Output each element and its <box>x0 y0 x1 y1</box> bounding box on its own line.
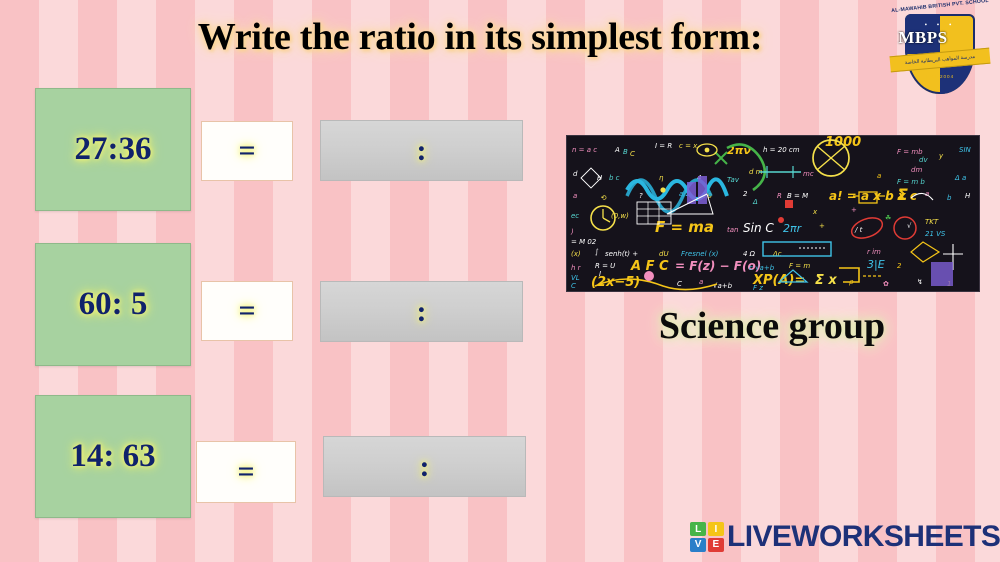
svg-text:dv: dv <box>919 156 928 164</box>
equals-box-2: = <box>201 281 293 341</box>
svg-text:⟲: ⟲ <box>601 194 607 202</box>
svg-text:B = M: B = M <box>787 192 808 200</box>
svg-text:d: d <box>573 170 578 178</box>
svg-text:?: ? <box>639 192 643 200</box>
question-prompt-text: 14: 63 <box>70 438 155 475</box>
svg-text:C: C <box>630 150 635 158</box>
svg-text:Σ: Σ <box>897 185 908 204</box>
svg-text:a: a <box>573 192 577 200</box>
equals-sign: = <box>238 294 255 328</box>
svg-text:C: C <box>571 282 576 290</box>
chalkboard-formulas-graphic: n = a c A B C I = R c = x 2πν h = 20 cm … <box>567 136 979 291</box>
logo-tile-l: L <box>690 522 706 536</box>
question-prompt-box-3: 14: 63 <box>35 395 191 518</box>
svg-text:R: R <box>777 192 782 200</box>
svg-text:Tav: Tav <box>727 176 740 184</box>
liveworksheets-tiles: L I V E <box>690 522 724 552</box>
answer-separator: : <box>417 295 427 329</box>
svg-text:A: A <box>614 146 620 154</box>
question-prompt-box-2: 60: 5 <box>35 243 191 366</box>
equals-sign: = <box>238 134 255 168</box>
logo-established-year: EST 2004 <box>905 74 975 79</box>
svg-text:R = U: R = U <box>595 262 615 270</box>
svg-text:η: η <box>659 174 664 182</box>
svg-text:2: 2 <box>743 190 748 198</box>
equals-box-1: = <box>201 121 293 181</box>
svg-text:B: B <box>623 148 628 156</box>
svg-text:dm: dm <box>911 166 922 174</box>
svg-text:3|E: 3|E <box>867 258 885 271</box>
svg-text:(x): (x) <box>571 250 581 258</box>
svg-text:SIN: SIN <box>959 146 972 154</box>
svg-text:(2x−5): (2x−5) <box>591 275 640 290</box>
liveworksheets-logo[interactable]: L I V E LIVEWORKSHEETS <box>690 519 1000 555</box>
svg-text:y: y <box>938 152 944 160</box>
svg-text:↯: ↯ <box>917 278 923 286</box>
illustration-caption: Science group <box>566 304 978 348</box>
svg-text:senh(t) +: senh(t) + <box>605 250 638 258</box>
question-prompt-text: 27:36 <box>75 131 152 168</box>
svg-text:): ) <box>570 228 574 236</box>
logo-tile-v: V <box>690 538 706 552</box>
svg-text:Σ x: Σ x <box>815 273 837 288</box>
svg-text:F z: F z <box>753 284 763 291</box>
svg-text:c = x: c = x <box>679 142 698 150</box>
school-logo: AL-MAWAHIB BRITISH PVT. SCHOOL • • • MBP… <box>888 2 992 98</box>
svg-text:b: b <box>947 194 952 202</box>
svg-text:r im: r im <box>867 248 881 256</box>
page-title: Write the ratio in its simplest form: <box>60 14 900 60</box>
svg-text:∫: ∫ <box>595 248 599 256</box>
answer-input-3[interactable]: : <box>323 436 526 497</box>
svg-text:2πr: 2πr <box>783 222 803 235</box>
answer-separator: : <box>420 450 430 484</box>
svg-text:2: 2 <box>897 262 902 270</box>
equals-sign: = <box>237 455 254 489</box>
logo-monogram: MBPS <box>888 28 958 48</box>
svg-text:c √a+b: c √a+b <box>749 264 775 272</box>
svg-text:☘: ☘ <box>885 214 891 222</box>
svg-text:√: √ <box>907 222 912 230</box>
svg-text:b c: b c <box>609 174 620 182</box>
logo-tile-e: E <box>708 538 724 552</box>
svg-text:21 VS: 21 VS <box>925 230 946 238</box>
svg-text:I = R: I = R <box>655 142 672 150</box>
svg-text:Sin C: Sin C <box>743 221 774 235</box>
liveworksheets-wordmark: LIVEWORKSHEETS <box>727 522 1000 552</box>
svg-text:h r: h r <box>571 264 582 272</box>
question-prompt-box-1: 27:36 <box>35 88 191 211</box>
svg-text:ec: ec <box>571 212 579 220</box>
question-prompt-text: 60: 5 <box>79 286 148 323</box>
svg-text:F = ma: F = ma <box>655 218 714 236</box>
svg-text:+: + <box>851 206 857 214</box>
svg-text:Fresnel (x): Fresnel (x) <box>681 250 719 258</box>
svg-text:n = a c: n = a c <box>572 146 597 154</box>
svg-text:Δc: Δc <box>772 250 782 258</box>
svg-text:F = m: F = m <box>789 262 810 270</box>
answer-input-2[interactable]: : <box>320 281 523 342</box>
svg-text:VL: VL <box>571 274 580 282</box>
svg-text:mc: mc <box>803 170 814 178</box>
worksheet-page: Write the ratio in its simplest form: AL… <box>0 0 1000 562</box>
school-name-arc: AL-MAWAHIB BRITISH PVT. SCHOOL <box>888 0 992 14</box>
chalkboard-image: n = a c A B C I = R c = x 2πν h = 20 cm … <box>566 135 980 292</box>
logo-tile-i: I <box>708 522 724 536</box>
svg-text:tan: tan <box>727 226 738 234</box>
svg-text:TKT: TKT <box>925 218 939 226</box>
svg-text:dU: dU <box>659 250 669 258</box>
svg-text:Δ: Δ <box>752 198 758 206</box>
svg-text:a: a <box>877 172 881 180</box>
answer-separator: : <box>417 134 427 168</box>
svg-text:√a+b: √a+b <box>713 282 733 290</box>
svg-text:✿: ✿ <box>883 280 889 288</box>
equals-box-3: = <box>196 441 296 503</box>
svg-text:Δ a: Δ a <box>954 174 966 182</box>
svg-text:= M 02: = M 02 <box>571 238 597 246</box>
svg-text:4 Ω: 4 Ω <box>743 250 756 258</box>
svg-text:/ t: / t <box>854 226 863 234</box>
svg-text:+: + <box>819 222 825 230</box>
svg-text:F = mb: F = mb <box>897 148 923 156</box>
svg-text:H: H <box>965 192 971 200</box>
svg-text:x: x <box>812 208 818 216</box>
svg-text:C: C <box>677 280 682 288</box>
answer-input-1[interactable]: : <box>320 120 523 181</box>
svg-text:h = 20 cm: h = 20 cm <box>763 146 800 154</box>
svg-text:a: a <box>699 278 703 286</box>
